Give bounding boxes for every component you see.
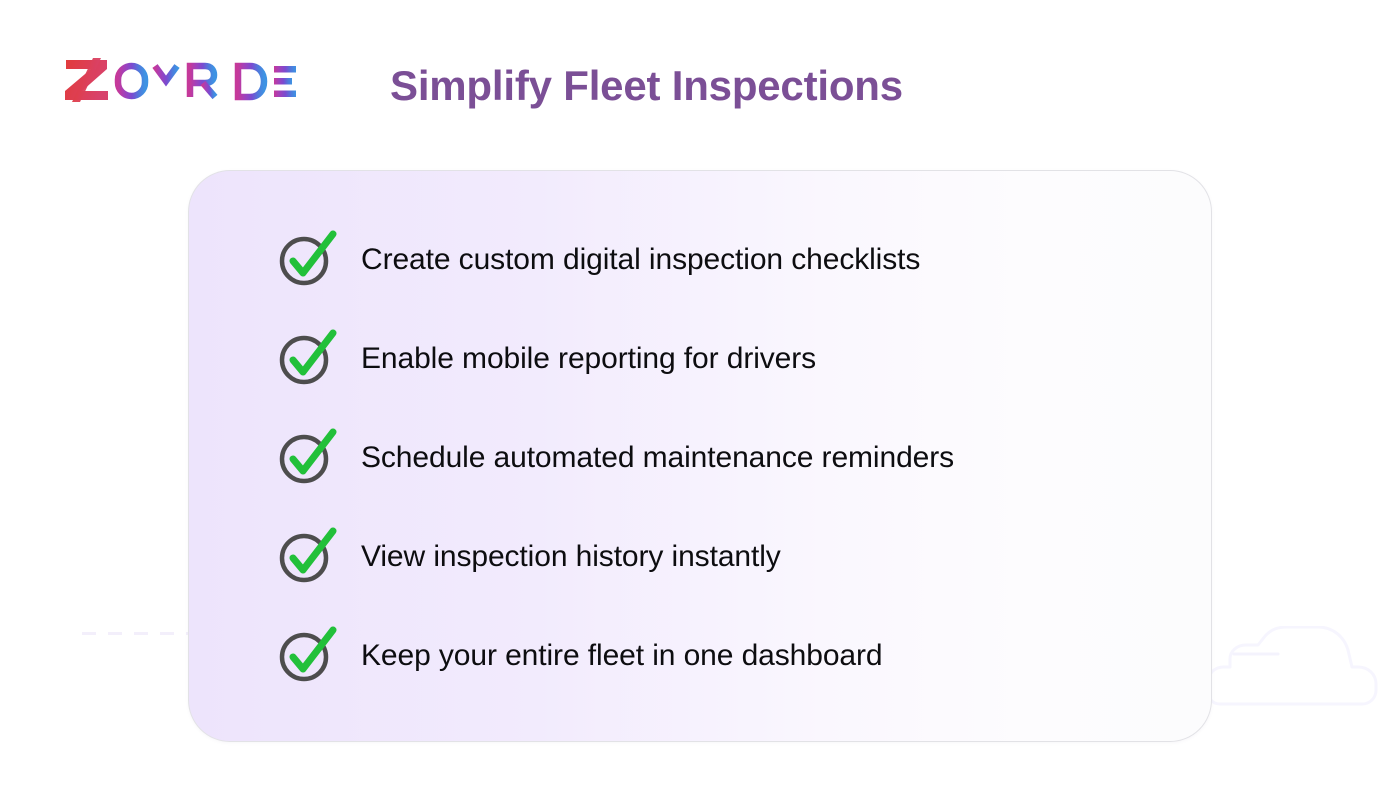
list-item: Enable mobile reporting for drivers: [277, 328, 1171, 388]
check-circle-icon: [277, 230, 339, 288]
list-item: Schedule automated maintenance reminders: [277, 427, 1171, 487]
list-item: Create custom digital inspection checkli…: [277, 229, 1171, 289]
feature-label: Keep your entire fleet in one dashboard: [361, 639, 882, 672]
feature-label: Enable mobile reporting for drivers: [361, 342, 816, 375]
feature-label: Schedule automated maintenance reminders: [361, 441, 954, 474]
feature-label: Create custom digital inspection checkli…: [361, 243, 920, 276]
list-item: Keep your entire fleet in one dashboard: [277, 625, 1171, 685]
feature-list: Create custom digital inspection checkli…: [277, 229, 1171, 685]
page-title: Simplify Fleet Inspections: [390, 62, 903, 110]
check-circle-icon: [277, 329, 339, 387]
feature-label: View inspection history instantly: [361, 540, 781, 573]
zoyride-logo[interactable]: [60, 56, 296, 104]
logo-wordmark: [118, 66, 264, 97]
car-outline-watermark: [1204, 626, 1384, 722]
logo-letter-e: [274, 66, 296, 97]
check-circle-icon: [277, 428, 339, 486]
page-header: Simplify Fleet Inspections: [0, 0, 1400, 150]
check-circle-icon: [277, 527, 339, 585]
logo-z-mark: [65, 57, 108, 103]
check-circle-icon: [277, 626, 339, 684]
feature-card: Create custom digital inspection checkli…: [188, 170, 1212, 742]
dashed-road-line: [82, 632, 202, 635]
list-item: View inspection history instantly: [277, 526, 1171, 586]
